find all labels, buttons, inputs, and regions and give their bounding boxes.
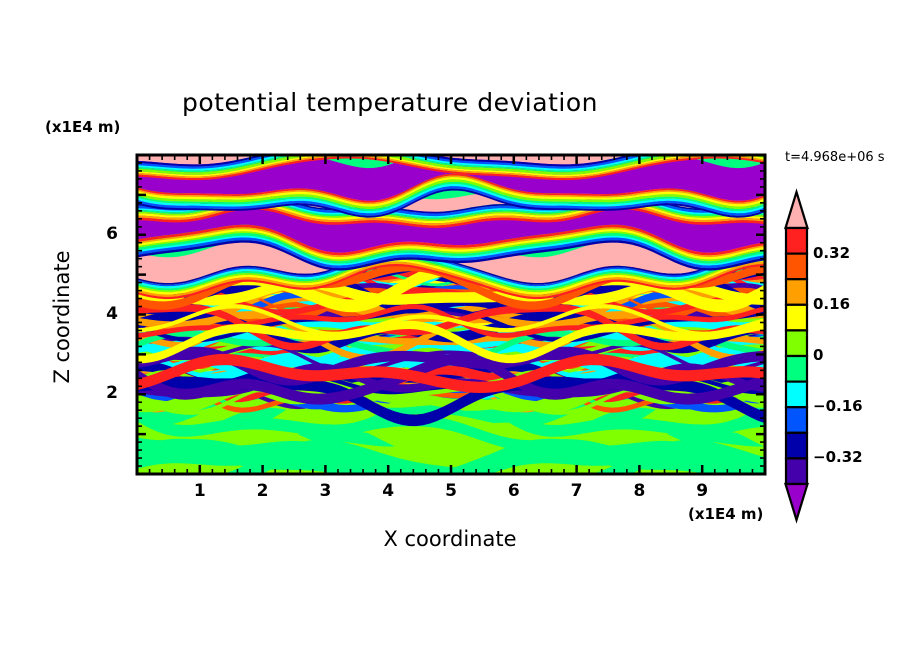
plot-canvas — [0, 0, 904, 654]
colorbar-band-8 — [786, 433, 807, 459]
colorbar-band-0 — [786, 228, 807, 254]
colorbar-band-6 — [786, 382, 807, 408]
colorbar-band-9 — [786, 458, 807, 484]
colorbar-band-5 — [786, 356, 807, 382]
colorbar-band-7 — [786, 407, 807, 433]
colorbar — [786, 192, 808, 520]
colorbar-band-2 — [786, 279, 807, 305]
colorbar-band-4 — [786, 330, 807, 356]
colorbar-band-3 — [786, 305, 807, 331]
colorbar-top-cap — [786, 192, 808, 228]
colorbar-band-1 — [786, 254, 807, 280]
contour-field — [137, 130, 765, 507]
colorbar-bottom-cap — [786, 484, 808, 520]
